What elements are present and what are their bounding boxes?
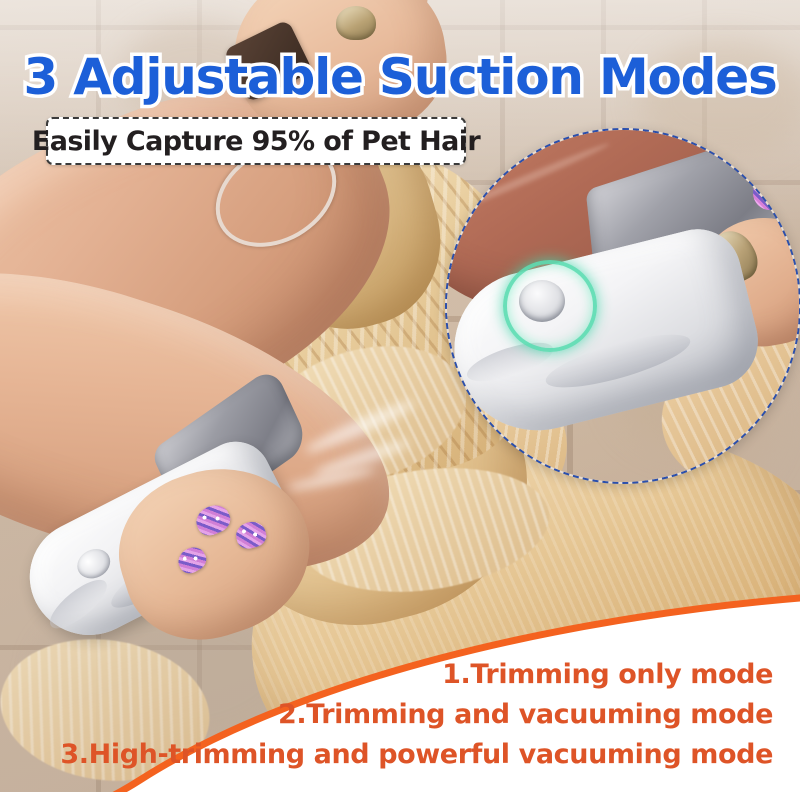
list-item: 2.Trimming and vacuuming mode [0, 695, 773, 735]
gold-nail [336, 6, 376, 40]
page-title: 3 Adjustable Suction Modes [0, 48, 800, 106]
list-item: 3.High-trimming and powerful vacuuming m… [0, 735, 773, 775]
subtitle-badge: Easily Capture 95% of Pet Hair [46, 117, 466, 165]
list-item: 1.Trimming only mode [0, 655, 773, 695]
glitter-nail [753, 176, 787, 210]
power-indicator-glow-icon [503, 260, 597, 352]
subtitle-text: Easily Capture 95% of Pet Hair [32, 126, 480, 157]
magnified-detail-circle [445, 128, 800, 484]
product-banner: 3 Adjustable Suction Modes Easily Captur… [0, 0, 800, 800]
suction-modes-list: 1.Trimming only mode 2.Trimming and vacu… [0, 655, 773, 775]
